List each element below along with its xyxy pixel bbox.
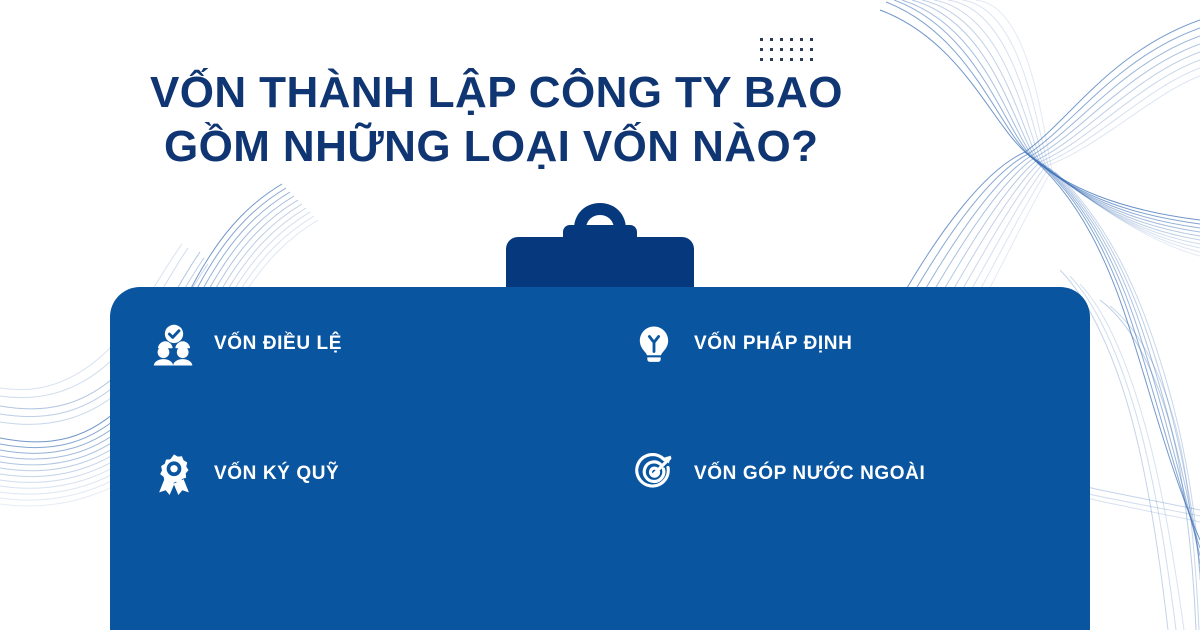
page-title-line-1: VỐN THÀNH LẬP CÔNG TY BAO (150, 66, 910, 120)
infographic-canvas: VỐN THÀNH LẬP CÔNG TY BAO GỒM NHỮNG LOẠI… (0, 0, 1200, 630)
lightbulb-icon (632, 322, 676, 366)
list-item-legal-capital[interactable]: VỐN PHÁP ĐỊNH (632, 322, 852, 366)
capital-types-card: VỐN ĐIỀU LỆ VỐN PHÁP ĐỊNH (110, 287, 1090, 630)
capital-types-list: VỐN ĐIỀU LỆ VỐN PHÁP ĐỊNH (110, 287, 1090, 630)
list-item-escrow-capital[interactable]: VỐN KÝ QUỸ (152, 452, 339, 496)
page-title: VỐN THÀNH LẬP CÔNG TY BAO GỒM NHỮNG LOẠI… (150, 66, 910, 174)
list-item-label: VỐN GÓP NƯỚC NGOÀI (694, 463, 925, 485)
list-item-label: VỐN ĐIỀU LỆ (214, 333, 342, 355)
dot-grid-decoration (760, 38, 820, 68)
list-item-label: VỐN KÝ QUỸ (214, 463, 339, 485)
list-item-label: VỐN PHÁP ĐỊNH (694, 333, 852, 355)
list-item-foreign-contributed-capital[interactable]: VỐN GÓP NƯỚC NGOÀI (632, 452, 925, 496)
list-item-charter-capital[interactable]: VỐN ĐIỀU LỆ (152, 322, 342, 366)
target-arrow-icon (632, 452, 676, 496)
page-title-line-2: GỒM NHỮNG LOẠI VỐN NÀO? (150, 120, 910, 174)
people-group-check-icon (152, 322, 196, 366)
award-badge-icon (152, 452, 196, 496)
